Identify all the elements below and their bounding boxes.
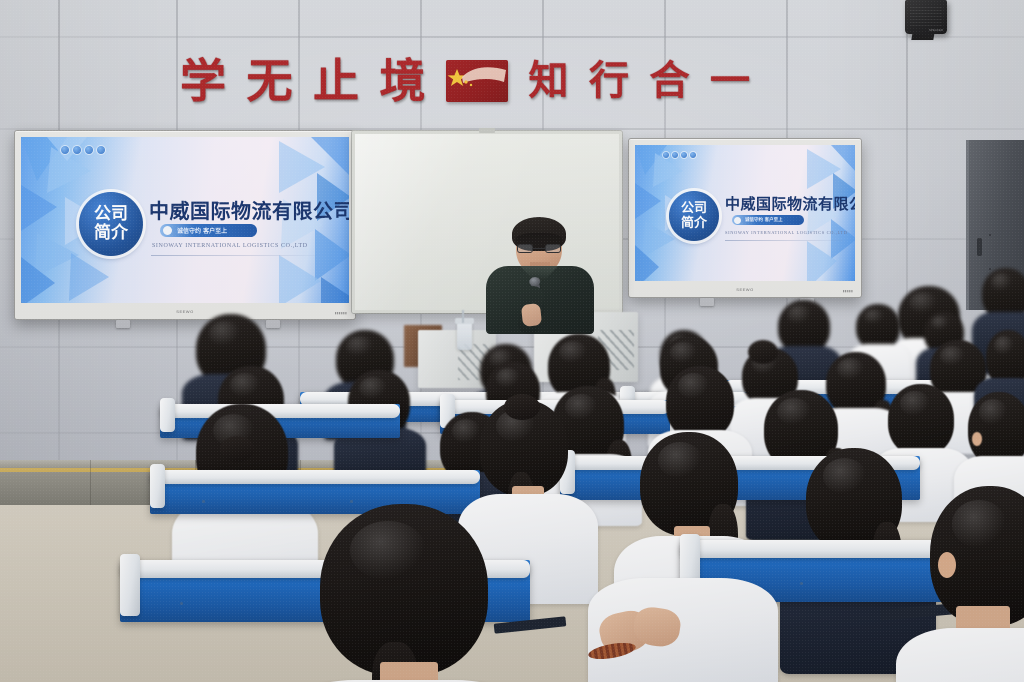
lecture-hall-photo: 学 无 止 境 知 行 合 一 SPEAKER <box>0 0 1024 682</box>
slide-tagline: 诚信守约 客户至上 <box>177 226 227 235</box>
display-brand-label-right: SEEWO <box>736 287 753 292</box>
left-slide-canvas: 公司 简介 中威国际物流有限公司 诚信守约 客户至上 SINOWAY INTER… <box>21 137 349 303</box>
slide-company-name-cn: 中威国际物流有限公司 <box>149 195 349 224</box>
slogan-char-1: 学 <box>180 58 226 104</box>
display-model-label-right: ▮▮▮▮▮ <box>843 289 853 293</box>
right-slide-canvas: 公司 简介 中威国际物流有限公司 诚信守约 客户至上 SINOWAY INTER… <box>635 145 855 281</box>
right-interactive-display[interactable]: 公司 简介 中威国际物流有限公司 诚信守约 客户至上 SINOWAY INTER… <box>628 138 862 298</box>
chinese-flag-emblem-icon <box>446 60 508 102</box>
badge-line-2: 简介 <box>94 224 128 243</box>
display-model-label: ▮▮▮▮▮▮ <box>335 311 347 315</box>
slogan-char-5: 知 <box>529 61 569 101</box>
slide-icon-3 <box>85 146 93 154</box>
slogan-char-4: 境 <box>380 58 426 104</box>
slide-company-name-en-right: SINOWAY INTERNATIONAL LOGISTICS CO.,LTD <box>725 230 848 235</box>
presenter <box>486 222 594 334</box>
slide-icon-row <box>61 146 105 154</box>
slide-icon-4 <box>97 146 105 154</box>
slide-company-name-cn-right: 中威国际物流有限公司 <box>725 193 855 214</box>
slide-tagline: 诚信守约 客户至上 <box>745 217 783 223</box>
slide-tagline-pill: 诚信守约 客户至上 <box>160 224 257 237</box>
speaker-brand-label: SPEAKER <box>929 28 943 32</box>
slogan-char-2: 无 <box>247 58 293 104</box>
whiteboard-clip <box>479 128 495 133</box>
left-interactive-display[interactable]: 公司 简介 中威国际物流有限公司 诚信守约 客户至上 SINOWAY INTER… <box>14 130 356 320</box>
presenter-hand <box>521 303 542 327</box>
slide-icon-1 <box>663 152 669 158</box>
slide-icon-row-right <box>663 152 696 158</box>
slide-icon-3 <box>681 152 687 158</box>
slide-company-name-en: SINOWAY INTERNATIONAL LOGISTICS CO.,LTD <box>152 243 308 249</box>
glasses-icon <box>517 244 561 253</box>
slogan-char-7: 合 <box>650 61 690 101</box>
wall-speaker-icon: SPEAKER <box>905 0 947 34</box>
slogan-char-6: 行 <box>589 61 629 101</box>
slide-company-badge: 公司 简介 <box>79 192 143 256</box>
slide-tagline-pill-right: 诚信守约 客户至上 <box>732 215 804 225</box>
slide-icon-2 <box>672 152 678 158</box>
wall-slogan: 学 无 止 境 知 行 合 一 <box>180 50 750 112</box>
slide-icon-4 <box>690 152 696 158</box>
left-display-mount-2 <box>266 320 280 328</box>
badge-line-1: 公司 <box>681 201 707 216</box>
slogan-char-3: 止 <box>313 58 359 104</box>
right-display-mount <box>700 298 714 306</box>
badge-line-2: 简介 <box>681 216 707 231</box>
door-handle-icon[interactable] <box>977 238 982 256</box>
slide-icon-2 <box>73 146 81 154</box>
drink-cup <box>457 322 472 350</box>
slide-company-badge-right: 公司 简介 <box>669 191 719 241</box>
left-display-mount <box>116 320 130 328</box>
display-brand-label: SEEWO <box>176 309 193 314</box>
badge-line-1: 公司 <box>94 205 128 224</box>
slogan-char-8: 一 <box>710 61 750 101</box>
slide-icon-1 <box>61 146 69 154</box>
